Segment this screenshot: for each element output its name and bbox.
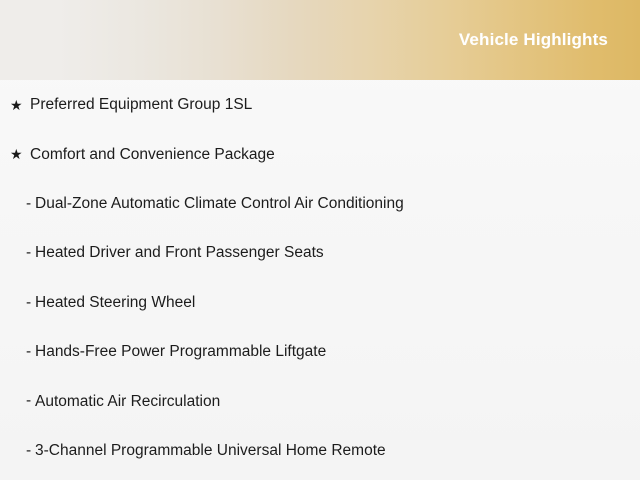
star-bullet-icon: ★ [10, 98, 30, 112]
highlight-label: 3-Channel Programmable Universal Home Re… [35, 441, 386, 460]
highlight-label: Heated Steering Wheel [35, 293, 195, 312]
highlight-subitem: -Heated Driver and Front Passenger Seats [0, 228, 640, 277]
highlight-item: ★Preferred Equipment Group 1SL [0, 80, 640, 129]
highlight-label: Comfort and Convenience Package [30, 145, 275, 164]
page-header-band: Vehicle Highlights [0, 0, 640, 80]
dash-bullet-icon: - [26, 393, 35, 409]
highlight-subitem: -Dual-Zone Automatic Climate Control Air… [0, 179, 640, 228]
highlight-label: Hands-Free Power Programmable Liftgate [35, 342, 326, 361]
dash-bullet-icon: - [26, 245, 35, 261]
highlight-label: Dual-Zone Automatic Climate Control Air … [35, 194, 404, 213]
highlight-subitem: -3-Channel Programmable Universal Home R… [0, 426, 640, 475]
highlight-label: Heated Driver and Front Passenger Seats [35, 243, 324, 262]
star-bullet-icon: ★ [10, 147, 30, 161]
highlight-label: Automatic Air Recirculation [35, 392, 220, 411]
vehicle-highlights-page: Vehicle Highlights ★Preferred Equipment … [0, 0, 640, 480]
highlight-subitem: -Heated Steering Wheel [0, 278, 640, 327]
dash-bullet-icon: - [26, 443, 35, 459]
dash-bullet-icon: - [26, 344, 35, 360]
highlights-list: ★Preferred Equipment Group 1SL★Comfort a… [0, 80, 640, 480]
highlight-subitem: -Automatic Air Recirculation [0, 376, 640, 425]
highlight-label: Preferred Equipment Group 1SL [30, 95, 252, 114]
dash-bullet-icon: - [26, 295, 35, 311]
highlight-subitem: -Hands-Free Power Programmable Liftgate [0, 327, 640, 376]
dash-bullet-icon: - [26, 196, 35, 212]
page-title: Vehicle Highlights [459, 29, 608, 51]
highlight-item: ★Comfort and Convenience Package [0, 129, 640, 178]
